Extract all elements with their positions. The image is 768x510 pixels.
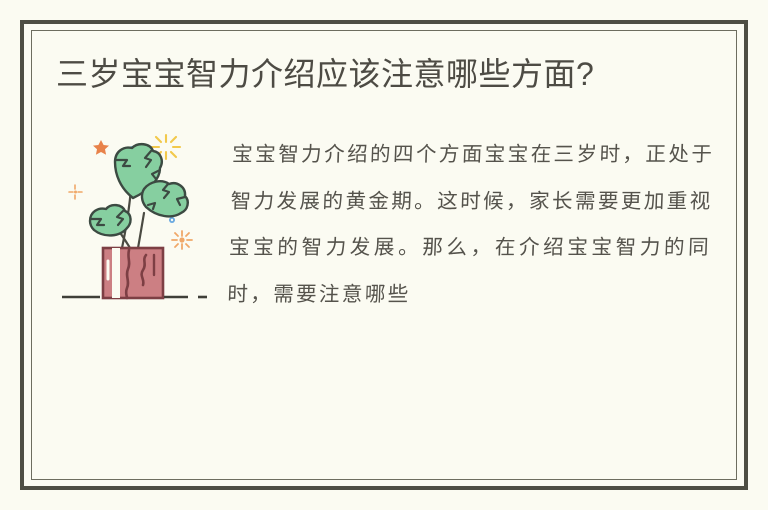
potted-plant-illustration	[60, 127, 210, 307]
cracked-flower-pot-icon	[103, 248, 163, 298]
monstera-leaf-right-icon	[142, 182, 188, 217]
article-card: 三岁宝宝智力介绍应该注意哪些方面?	[0, 0, 768, 510]
sparkle-peach-small-icon	[69, 185, 82, 199]
sparkle-orange-burst-right-icon	[172, 231, 192, 249]
article-paragraph: 宝宝智力介绍的四个方面宝宝在三岁时，正处于智力发展的黄金期。这时候，家长需要更加…	[207, 123, 716, 317]
sparkle-orange-star-icon	[93, 140, 109, 155]
card-content: 三岁宝宝智力介绍应该注意哪些方面?	[0, 0, 768, 510]
article-body: 宝宝智力介绍的四个方面宝宝在三岁时，正处于智力发展的黄金期。这时候，家长需要更加…	[56, 123, 712, 317]
monstera-leaf-left-icon	[90, 205, 131, 235]
sparkle-blue-dot-right-icon	[169, 217, 175, 223]
page-title: 三岁宝宝智力介绍应该注意哪些方面?	[56, 52, 712, 97]
